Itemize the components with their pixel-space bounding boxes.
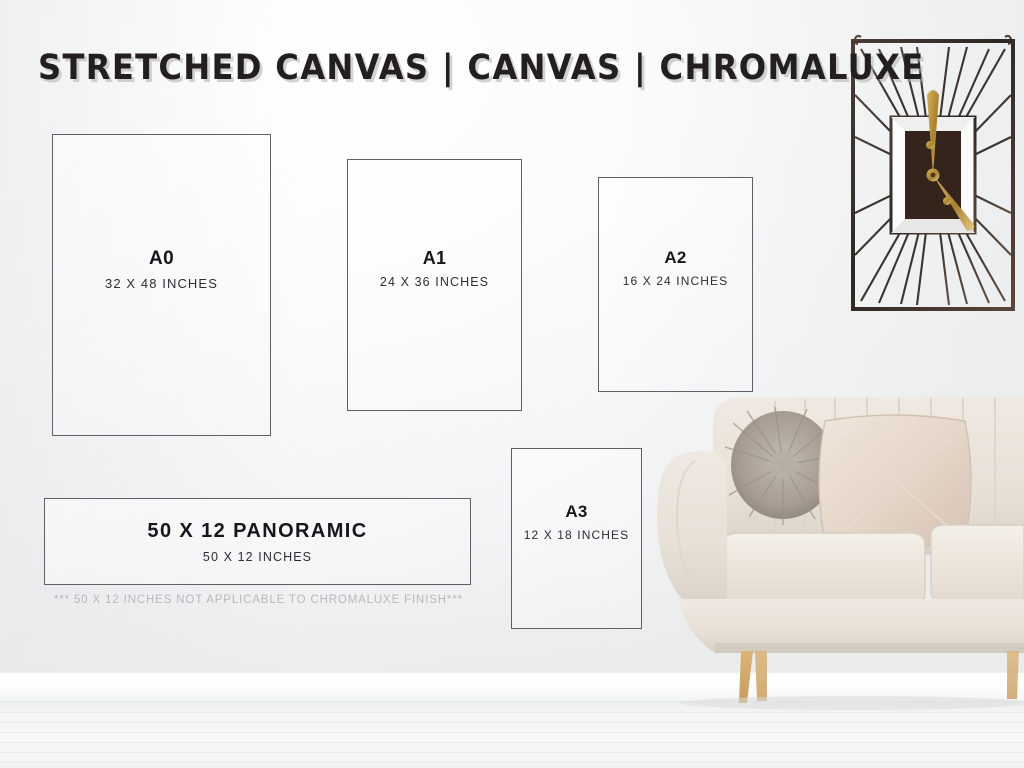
frame-a3-dimensions: 12 X 18 INCHES [512, 528, 641, 542]
frame-panoramic-dimensions: 50 X 12 INCHES [45, 550, 470, 564]
frame-size-a0[interactable]: A0 32 X 48 INCHES [52, 134, 271, 436]
frame-a2-dimensions: 16 X 24 INCHES [599, 274, 752, 288]
frame-a1-dimensions: 24 X 36 INCHES [348, 275, 521, 289]
sofa-illustration [655, 385, 1024, 715]
size-guide-image: STRETCHED CANVAS | CANVAS | CHROMALUXE A… [0, 0, 1024, 768]
page-title: STRETCHED CANVAS | CANVAS | CHROMALUXE [38, 48, 924, 88]
frame-a1-name: A1 [348, 248, 521, 269]
frame-a3-name: A3 [512, 502, 641, 522]
frame-a0-dimensions: 32 X 48 INCHES [53, 276, 270, 291]
frame-panoramic-name: 50 X 12 PANORAMIC [45, 520, 470, 543]
frame-a0-name: A0 [53, 248, 270, 270]
panoramic-disclaimer: *** 50 X 12 INCHES NOT APPLICABLE TO CHR… [54, 594, 463, 606]
frame-size-a2[interactable]: A2 16 X 24 INCHES [598, 177, 753, 392]
frame-size-a3[interactable]: A3 12 X 18 INCHES [511, 448, 642, 629]
frame-a2-name: A2 [599, 248, 752, 268]
frame-size-a1[interactable]: A1 24 X 36 INCHES [347, 159, 522, 411]
frame-size-panoramic[interactable]: 50 X 12 PANORAMIC 50 X 12 INCHES [44, 498, 471, 585]
